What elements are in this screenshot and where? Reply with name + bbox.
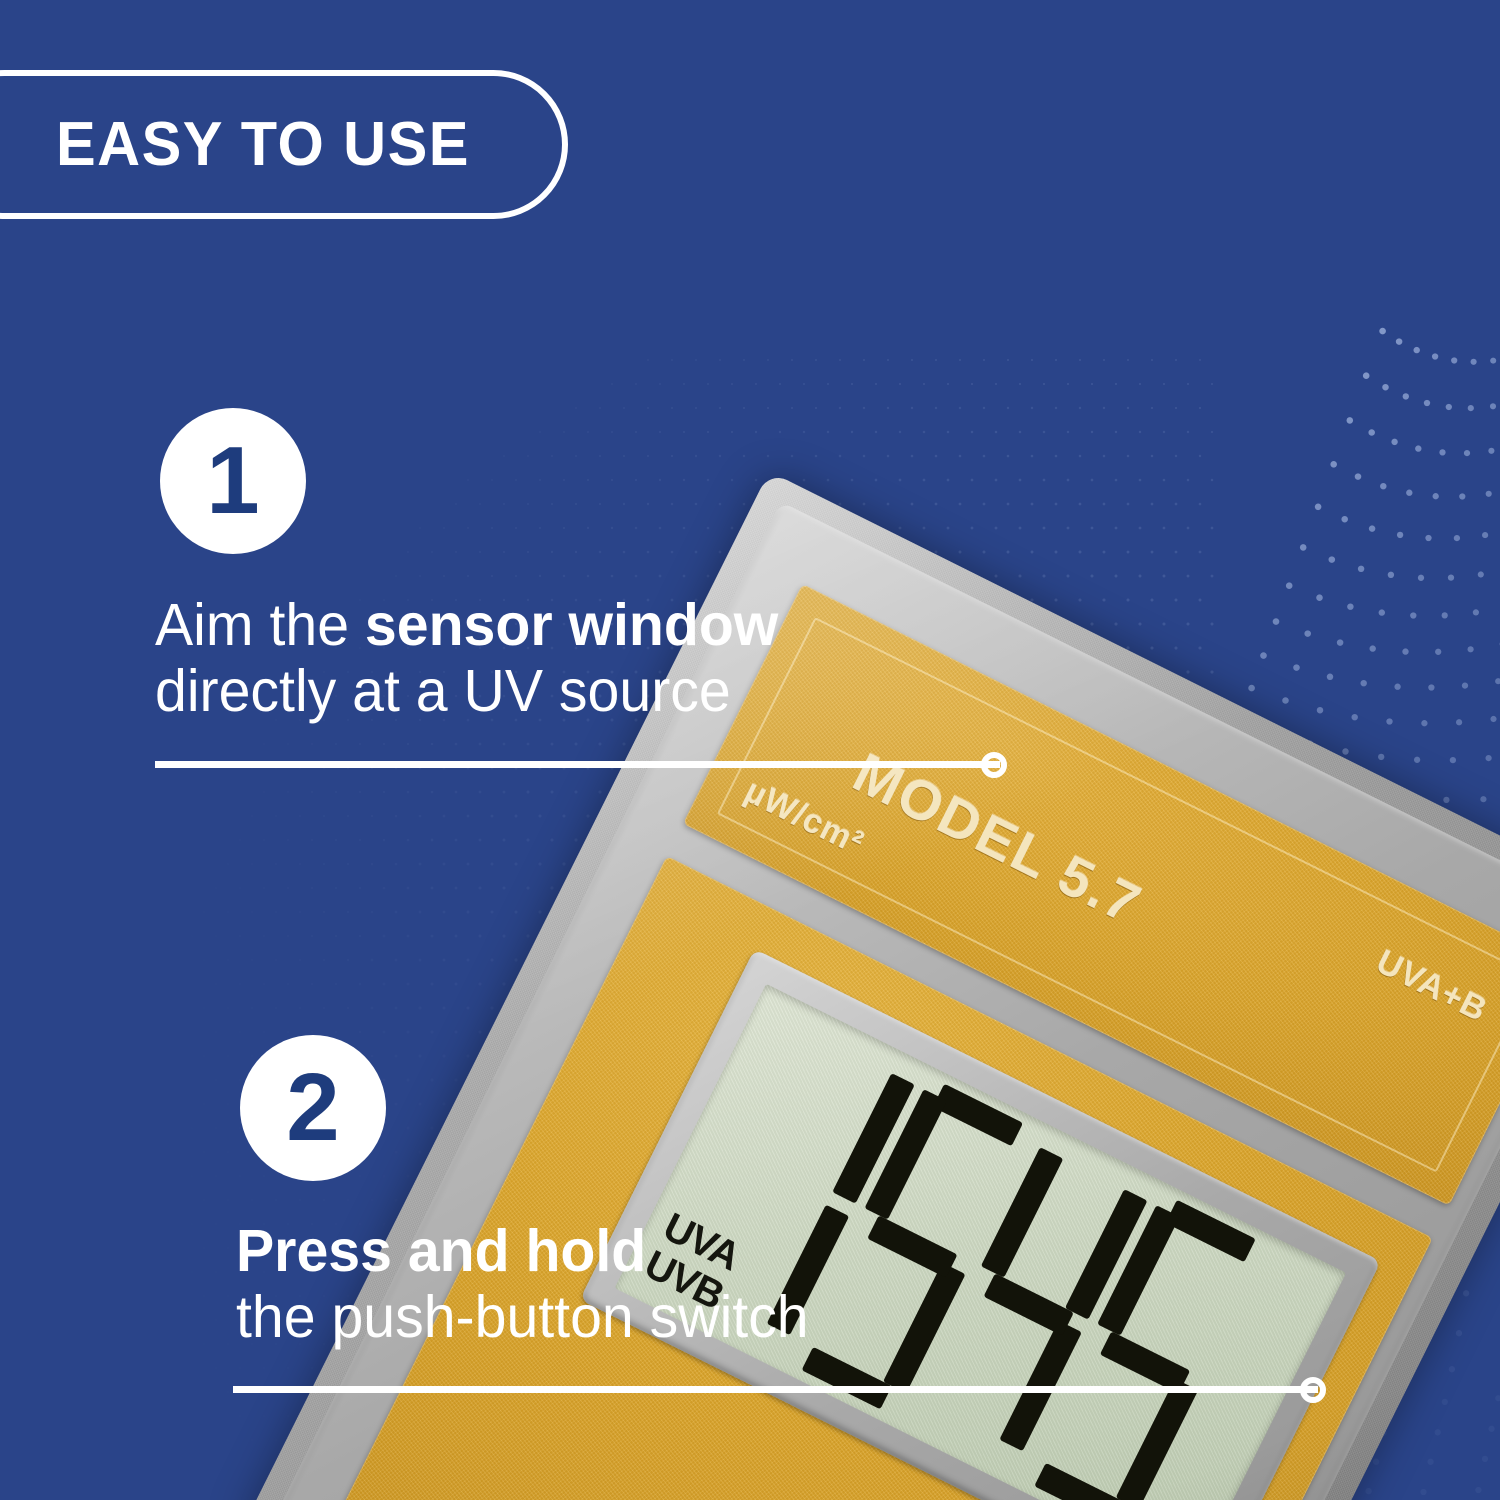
step-2-line-1: Press and hold: [236, 1218, 809, 1284]
step-2-badge: 2: [240, 1035, 386, 1181]
step-2-leader-endpoint-icon: [1300, 1377, 1326, 1403]
poster-canvas: EASY TO USE MODEL 5.7 UVA+B µW/cm² UVA U…: [0, 0, 1500, 1500]
step-2-text: Press and hold the push-button switch: [236, 1218, 826, 1350]
lcd-segment-d: [802, 1347, 892, 1410]
step-1-line-1: Aim the sensor window: [155, 592, 778, 658]
header-badge-label: EASY TO USE: [56, 114, 470, 176]
step-2-number: 2: [286, 1060, 339, 1156]
step-1-line-2: directly at a UV source: [155, 658, 778, 724]
step-1-badge: 1: [160, 408, 306, 554]
step-1-leader-endpoint-icon: [981, 752, 1007, 778]
step-1-text: Aim the sensor window directly at a UV s…: [155, 592, 798, 724]
step-1-number: 1: [206, 433, 259, 529]
step-1-leader-line: [155, 761, 1000, 768]
step-2-line-2: the push-button switch: [236, 1284, 809, 1350]
lcd-segment-g: [867, 1215, 957, 1278]
header-badge: EASY TO USE: [0, 70, 568, 219]
step-2-leader-line: [233, 1386, 1318, 1393]
lcd-segment-g: [1100, 1331, 1190, 1394]
lcd-segment-d: [1034, 1463, 1124, 1500]
lcd-segment-c: [1116, 1379, 1199, 1500]
step-2-emphasis: Press and hold: [236, 1218, 646, 1284]
step-1-prefix: Aim the: [155, 592, 365, 658]
step-1-emphasis: sensor window: [365, 592, 778, 658]
lcd-segment-g: [984, 1273, 1074, 1336]
